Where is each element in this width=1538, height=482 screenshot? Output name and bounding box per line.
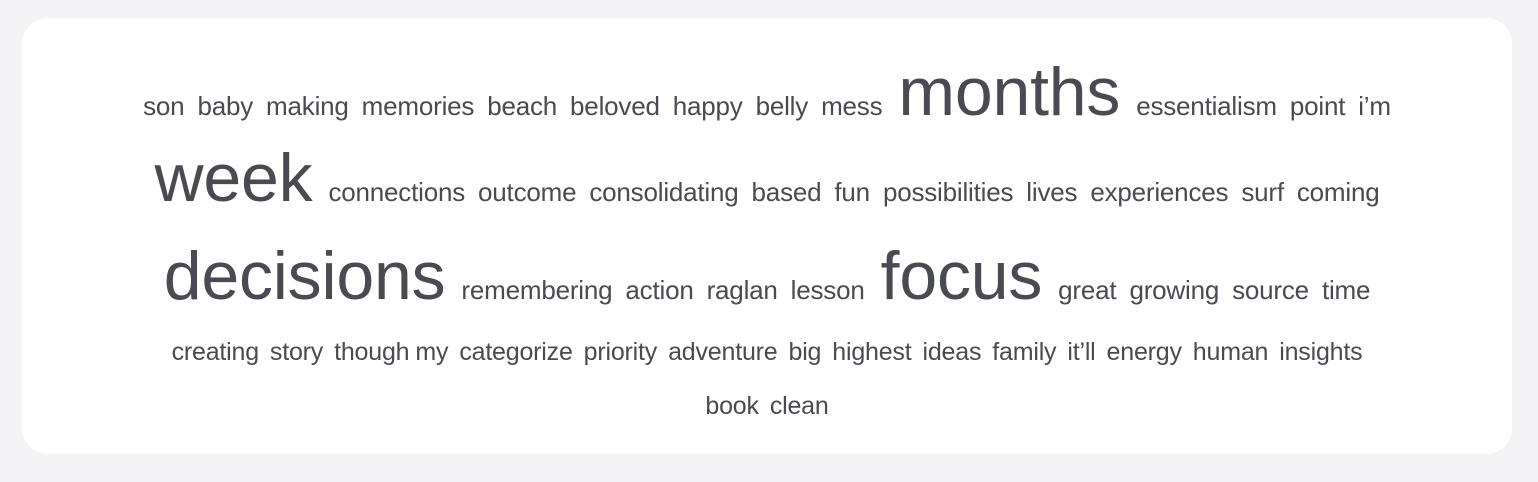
cloud-word[interactable]: making — [266, 93, 349, 119]
cloud-word[interactable]: lesson — [791, 277, 865, 303]
cloud-word[interactable]: coming — [1297, 179, 1380, 205]
cloud-word[interactable]: belly — [756, 93, 808, 119]
cloud-word[interactable]: human — [1193, 340, 1268, 365]
cloud-word[interactable]: based — [752, 179, 822, 205]
cloud-word[interactable]: time — [1322, 277, 1370, 303]
cloud-word[interactable]: highest — [832, 340, 911, 365]
cloud-word[interactable]: it’ll — [1067, 340, 1095, 365]
cloud-word[interactable]: energy — [1107, 340, 1182, 365]
cloud-word[interactable]: source — [1232, 277, 1309, 303]
cloud-word-prominent[interactable]: months — [898, 58, 1120, 126]
cloud-word[interactable]: son — [143, 93, 184, 119]
cloud-word[interactable]: ideas — [922, 340, 981, 365]
cloud-word[interactable]: raglan — [707, 277, 778, 303]
word-cloud-row: son baby making memories beach beloved h… — [22, 58, 1512, 144]
cloud-word[interactable]: outcome — [478, 179, 576, 205]
cloud-word[interactable]: connections — [328, 179, 465, 205]
cloud-word[interactable]: beloved — [570, 93, 660, 119]
cloud-word[interactable]: great — [1058, 277, 1116, 303]
cloud-word[interactable]: lives — [1026, 179, 1077, 205]
cloud-word[interactable]: memories — [362, 93, 475, 119]
word-cloud-rows: son baby making memories beach beloved h… — [22, 18, 1512, 454]
cloud-word[interactable]: possibilities — [883, 179, 1013, 205]
cloud-word[interactable]: i’m — [1358, 93, 1391, 119]
word-cloud-card: son baby making memories beach beloved h… — [22, 18, 1512, 454]
cloud-word[interactable]: essentialism — [1136, 93, 1277, 119]
cloud-word[interactable]: consolidating — [589, 179, 738, 205]
cloud-word[interactable]: action — [625, 277, 693, 303]
cloud-word[interactable]: my — [415, 340, 448, 365]
word-cloud-row: decisions remembering action raglan less… — [22, 242, 1512, 340]
cloud-word[interactable]: clean — [770, 394, 829, 419]
cloud-word[interactable]: remembering — [461, 277, 612, 303]
cloud-word[interactable]: family — [992, 340, 1056, 365]
cloud-word[interactable]: growing — [1129, 277, 1219, 303]
cloud-word[interactable]: story — [270, 340, 323, 365]
cloud-word[interactable]: surf — [1241, 179, 1284, 205]
cloud-word[interactable]: adventure — [668, 340, 777, 365]
cloud-word-prominent[interactable]: focus — [881, 242, 1043, 310]
cloud-word[interactable]: big — [789, 340, 822, 365]
cloud-word[interactable]: mess — [821, 93, 882, 119]
cloud-word[interactable]: happy — [673, 93, 743, 119]
word-cloud-row: week connections outcome consolidating b… — [22, 144, 1512, 242]
cloud-word[interactable]: though — [334, 340, 409, 365]
cloud-word[interactable]: fun — [834, 179, 870, 205]
cloud-word[interactable]: beach — [487, 93, 557, 119]
word-cloud-row: book clean — [22, 394, 1512, 444]
cloud-word[interactable]: categorize — [459, 340, 572, 365]
cloud-word[interactable]: insights — [1279, 340, 1362, 365]
word-cloud-row: creating story though my categorize prio… — [22, 340, 1512, 394]
cloud-word[interactable]: point — [1290, 93, 1345, 119]
cloud-word-prominent[interactable]: week — [155, 144, 313, 212]
cloud-word[interactable]: baby — [197, 93, 253, 119]
cloud-word[interactable]: priority — [584, 340, 657, 365]
cloud-word-prominent[interactable]: decisions — [164, 242, 446, 310]
cloud-word[interactable]: experiences — [1090, 179, 1228, 205]
cloud-word[interactable]: creating — [172, 340, 259, 365]
cloud-word[interactable]: book — [705, 394, 758, 419]
